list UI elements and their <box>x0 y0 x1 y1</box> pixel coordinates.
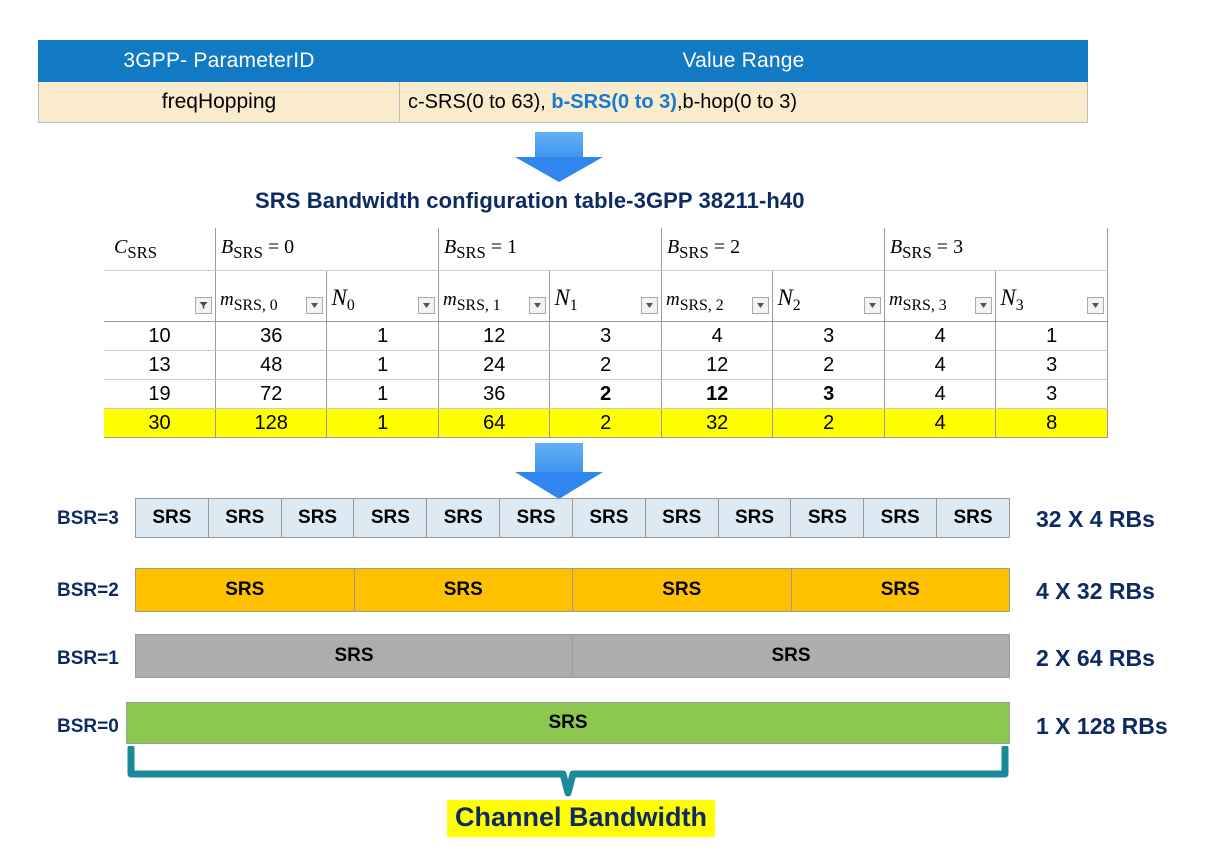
filter-icon[interactable] <box>195 297 212 314</box>
cell: 1 <box>327 351 439 380</box>
cell: 4 <box>884 351 995 380</box>
sub-header-c-srs-filter <box>104 271 215 322</box>
sub-header-n-1: N1 <box>550 271 662 322</box>
table-row: 13 48 1 24 2 12 2 4 3 <box>104 351 1108 380</box>
srs-cell: SRS <box>136 569 355 611</box>
bandwidth-config-table: CSRS BSRS = 0 BSRS = 1 BSRS = 2 BSRS = 3… <box>104 228 1108 438</box>
group-header-b-srs-1: BSRS = 1 <box>438 228 661 271</box>
rb-label-2: 4 X 32 RBs <box>1036 578 1155 605</box>
curly-brace-icon <box>126 746 1010 798</box>
group-header-b-srs-2: BSRS = 2 <box>661 228 884 271</box>
value-suffix: ,b-hop(0 to 3) <box>677 91 797 113</box>
cell: 32 <box>661 409 772 438</box>
value-prefix: c-SRS(0 to 63), <box>408 91 551 113</box>
column-header-value-range: Value Range <box>400 41 1088 82</box>
srs-cell: SRS <box>937 499 1009 537</box>
srs-cell: SRS <box>791 499 864 537</box>
srs-cell: SRS <box>573 635 1009 677</box>
dropdown-icon[interactable] <box>864 297 881 314</box>
srs-cell: SRS <box>646 499 719 537</box>
cell: 48 <box>215 351 326 380</box>
cell: 2 <box>550 409 662 438</box>
cell: 1 <box>996 322 1108 351</box>
bsr-bar-1: SRS SRS <box>135 634 1010 678</box>
cell: 72 <box>215 380 326 409</box>
srs-cell: SRS <box>136 635 573 677</box>
srs-cell: SRS <box>719 499 792 537</box>
cell: 4 <box>884 409 995 438</box>
srs-cell: SRS <box>500 499 573 537</box>
bsr-label-3: BSR=3 <box>57 508 119 530</box>
srs-cell: SRS <box>127 703 1009 743</box>
cell: 19 <box>104 380 215 409</box>
srs-cell: SRS <box>792 569 1010 611</box>
cell: 4 <box>884 322 995 351</box>
dropdown-icon[interactable] <box>752 297 769 314</box>
cell: 10 <box>104 322 215 351</box>
cell-parameter-name: freqHopping <box>39 82 400 123</box>
srs-cell: SRS <box>209 499 282 537</box>
cell: 30 <box>104 409 215 438</box>
value-highlight-b-srs: b-SRS(0 to 3) <box>551 91 677 113</box>
srs-cell: SRS <box>427 499 500 537</box>
sub-header-m-srs-3: mSRS, 3 <box>884 271 995 322</box>
group-header-b-srs-3: BSRS = 3 <box>884 228 1107 271</box>
cell: 24 <box>438 351 549 380</box>
group-header-row: CSRS BSRS = 0 BSRS = 1 BSRS = 2 BSRS = 3 <box>104 228 1108 271</box>
dropdown-icon[interactable] <box>641 297 658 314</box>
srs-cell: SRS <box>573 499 646 537</box>
srs-cell: SRS <box>136 499 209 537</box>
cell: 2 <box>550 351 662 380</box>
srs-cell: SRS <box>864 499 937 537</box>
cell: 3 <box>550 322 662 351</box>
bsr-label-0: BSR=0 <box>57 716 119 738</box>
cell-value-range: c-SRS(0 to 63), b-SRS(0 to 3),b-hop(0 to… <box>400 82 1088 123</box>
cell: 1 <box>327 322 439 351</box>
table-row: 10 36 1 12 3 4 3 4 1 <box>104 322 1108 351</box>
table-row: 19 72 1 36 2 12 3 4 3 <box>104 380 1108 409</box>
srs-cell: SRS <box>282 499 355 537</box>
cell: 36 <box>438 380 549 409</box>
cell: 2 <box>773 409 885 438</box>
dropdown-icon[interactable] <box>1087 297 1104 314</box>
sub-header-n-2: N2 <box>773 271 885 322</box>
sub-header-row: mSRS, 0 N0 mSRS, 1 N1 mSRS, 2 N2 mSRS, 3… <box>104 271 1108 322</box>
cell: 2 <box>773 351 885 380</box>
dropdown-icon[interactable] <box>529 297 546 314</box>
cell: 2 <box>550 380 662 409</box>
bsr-bar-0: SRS <box>126 702 1010 744</box>
bsr-bar-3: SRS SRS SRS SRS SRS SRS SRS SRS SRS SRS … <box>135 498 1010 538</box>
dropdown-icon[interactable] <box>975 297 992 314</box>
bsr-label-2: BSR=2 <box>57 580 119 602</box>
cell: 3 <box>996 380 1108 409</box>
rb-label-0: 1 X 128 RBs <box>1036 713 1168 740</box>
cell: 4 <box>661 322 772 351</box>
bsr-label-1: BSR=1 <box>57 648 119 670</box>
cell: 8 <box>996 409 1108 438</box>
rb-label-1: 2 X 64 RBs <box>1036 645 1155 672</box>
cell: 64 <box>438 409 549 438</box>
table-row: freqHopping c-SRS(0 to 63), b-SRS(0 to 3… <box>39 82 1088 123</box>
bsr-bar-2: SRS SRS SRS SRS <box>135 568 1010 612</box>
srs-cell: SRS <box>573 569 792 611</box>
sub-header-n-0: N0 <box>327 271 439 322</box>
srs-cell: SRS <box>355 569 574 611</box>
cell: 3 <box>773 380 885 409</box>
srs-cell: SRS <box>354 499 427 537</box>
rb-label-3: 32 X 4 RBs <box>1036 506 1155 533</box>
cell: 128 <box>215 409 326 438</box>
sub-header-m-srs-0: mSRS, 0 <box>215 271 326 322</box>
parameter-table: 3GPP- ParameterID Value Range freqHoppin… <box>38 40 1088 123</box>
cell: 1 <box>327 380 439 409</box>
parameter-table-header-row: 3GPP- ParameterID Value Range <box>39 41 1088 82</box>
table-row-highlighted: 30 128 1 64 2 32 2 4 8 <box>104 409 1108 438</box>
cell: 3 <box>773 322 885 351</box>
group-header-c-srs: CSRS <box>104 228 215 271</box>
group-header-b-srs-0: BSRS = 0 <box>215 228 438 271</box>
column-header-parameter-id: 3GPP- ParameterID <box>39 41 400 82</box>
cell: 36 <box>215 322 326 351</box>
page-title: SRS Bandwidth configuration table-3GPP 3… <box>255 188 805 214</box>
sub-header-n-3: N3 <box>996 271 1108 322</box>
cell: 4 <box>884 380 995 409</box>
sub-header-m-srs-2: mSRS, 2 <box>661 271 772 322</box>
cell: 12 <box>661 351 772 380</box>
channel-bandwidth-label: Channel Bandwidth <box>447 800 715 837</box>
sub-header-m-srs-1: mSRS, 1 <box>438 271 549 322</box>
cell: 12 <box>661 380 772 409</box>
cell: 1 <box>327 409 439 438</box>
cell: 13 <box>104 351 215 380</box>
cell: 3 <box>996 351 1108 380</box>
cell: 12 <box>438 322 549 351</box>
dropdown-icon[interactable] <box>418 297 435 314</box>
dropdown-icon[interactable] <box>306 297 323 314</box>
